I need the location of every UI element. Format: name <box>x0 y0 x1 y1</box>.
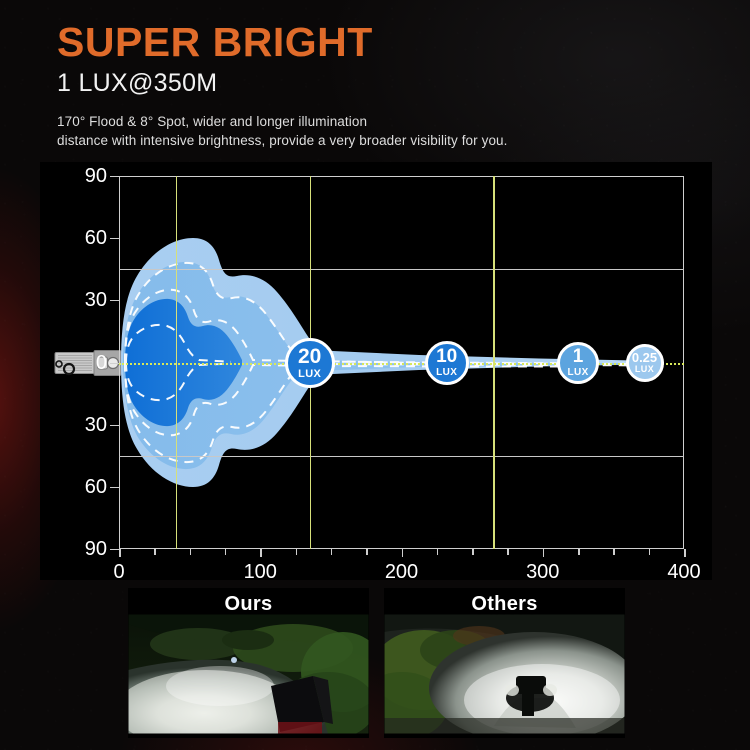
y-label-minus60: 60 <box>85 477 107 497</box>
x-tick-minor <box>366 549 368 555</box>
plot-area: 90 60 30 0 30 60 90 <box>119 176 684 549</box>
x-tick-minor <box>613 549 615 555</box>
photo-others <box>384 614 625 734</box>
x-tick-minor <box>154 549 156 555</box>
photo-ours <box>128 614 369 734</box>
lux-badge-10-unit: LUX <box>436 368 457 378</box>
y-tick-90 <box>110 176 119 177</box>
beam-pattern-chart: 90 60 30 0 30 60 90 <box>40 162 712 580</box>
x-tick-400 <box>684 549 686 557</box>
y-tick-minus90 <box>110 549 119 550</box>
x-tick-0 <box>119 549 121 557</box>
x-label-0: 0 <box>113 562 124 582</box>
lux-badge-10: 10 LUX <box>425 341 469 385</box>
photo-card-ours: Ours <box>128 588 369 738</box>
x-tick-minor <box>472 549 474 555</box>
photo-caption-others: Others <box>384 588 625 620</box>
description-text: 170° Flood & 8° Spot, wider and longer i… <box>57 112 717 150</box>
header-block: SUPER BRIGHT 1 LUX@350M 170° Flood & 8° … <box>57 22 717 150</box>
x-label-100: 100 <box>244 562 277 582</box>
page-title: SUPER BRIGHT <box>57 22 717 63</box>
photo-comparison: Ours <box>128 588 625 738</box>
lux-badge-20-value: 20 <box>298 346 321 367</box>
y-tick-minus60 <box>110 487 119 488</box>
y-tick-0 <box>110 363 119 364</box>
x-label-400: 400 <box>667 562 700 582</box>
y-label-90: 90 <box>85 166 107 186</box>
y-tick-30 <box>110 300 119 301</box>
photo-card-others: Others <box>384 588 625 738</box>
x-tick-minor <box>296 549 298 555</box>
x-tick-minor <box>190 549 192 555</box>
lux-badge-025: 0.25 LUX <box>626 344 664 382</box>
x-tick-200 <box>402 549 404 557</box>
y-label-minus90: 90 <box>85 539 107 559</box>
x-label-300: 300 <box>526 562 559 582</box>
description-line-1: 170° Flood & 8° Spot, wider and longer i… <box>57 114 367 129</box>
description-line-2: distance with intensive brightness, prov… <box>57 133 508 148</box>
lux-badge-025-unit: LUX <box>635 365 654 374</box>
lux-badge-20-unit: LUX <box>298 369 321 380</box>
y-tick-60 <box>110 238 119 239</box>
gridline-y-minus30 <box>119 456 684 457</box>
y-label-minus30: 30 <box>85 415 107 435</box>
y-tick-minus30 <box>110 425 119 426</box>
x-tick-minor <box>578 549 580 555</box>
x-tick-minor <box>437 549 439 555</box>
y-label-60: 60 <box>85 228 107 248</box>
x-tick-minor <box>649 549 651 555</box>
gridline-y-30 <box>119 269 684 270</box>
y-label-30: 30 <box>85 290 107 310</box>
y-label-0: 0 <box>96 353 107 373</box>
lux-badge-20: 20 LUX <box>285 338 335 388</box>
zero-axis-line <box>119 363 684 365</box>
x-tick-minor <box>331 549 333 555</box>
photo-caption-ours: Ours <box>128 588 369 620</box>
x-tick-minor <box>225 549 227 555</box>
lux-badge-10-value: 10 <box>436 347 457 366</box>
x-tick-300 <box>543 549 545 557</box>
lux-badge-1: 1 LUX <box>557 342 599 384</box>
lux-badge-1-unit: LUX <box>567 368 588 378</box>
x-tick-minor <box>507 549 509 555</box>
product-infographic: SUPER BRIGHT 1 LUX@350M 170° Flood & 8° … <box>0 0 750 750</box>
lux-badge-1-value: 1 <box>573 347 584 366</box>
lux-badge-025-value: 0.25 <box>632 351 657 364</box>
page-subtitle: 1 LUX@350M <box>57 71 717 96</box>
x-label-200: 200 <box>385 562 418 582</box>
x-tick-100 <box>260 549 262 557</box>
